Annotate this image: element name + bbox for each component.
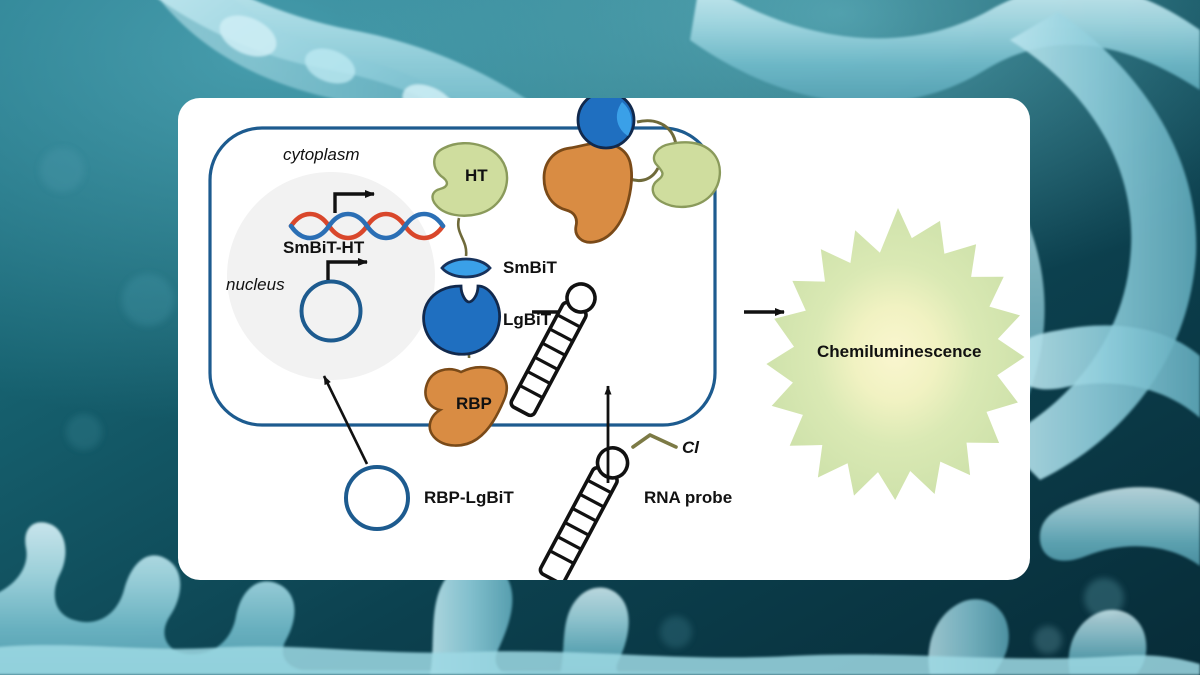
complex-rbp [544,143,632,242]
complex-halotag [653,142,720,207]
smbit-shape [442,259,490,277]
label-plasmid-rbp-lgbit: RBP-LgBiT [424,488,514,508]
label-rbp: RBP [456,394,492,414]
chloroalkane-linker [633,435,676,447]
label-gene-smbit-ht: SmBiT-HT [283,238,364,258]
rna-probe-free [538,443,633,580]
plasmid-free [346,467,408,529]
arrow-plasmid-to-nucleus [324,376,367,464]
label-cytoplasm: cytoplasm [283,145,360,165]
figure-stage: cytoplasm nucleus SmBiT-HT HT SmBiT LgBi… [0,0,1200,675]
rna-probe-bound [509,279,600,418]
label-nucleus: nucleus [226,275,285,295]
label-lgbit: LgBiT [503,310,551,330]
label-smbit: SmBiT [503,258,557,278]
mechanism-diagram [178,98,1030,580]
lgbit-shape [424,286,500,354]
label-halotag: HT [465,166,488,186]
figure-card: cytoplasm nucleus SmBiT-HT HT SmBiT LgBi… [178,98,1030,580]
label-rna-probe: RNA probe [644,488,732,508]
linker-ht-smbit [458,218,466,256]
label-chemiluminescence: Chemiluminescence [817,342,981,362]
label-chloroalkane: Cl [682,438,699,458]
